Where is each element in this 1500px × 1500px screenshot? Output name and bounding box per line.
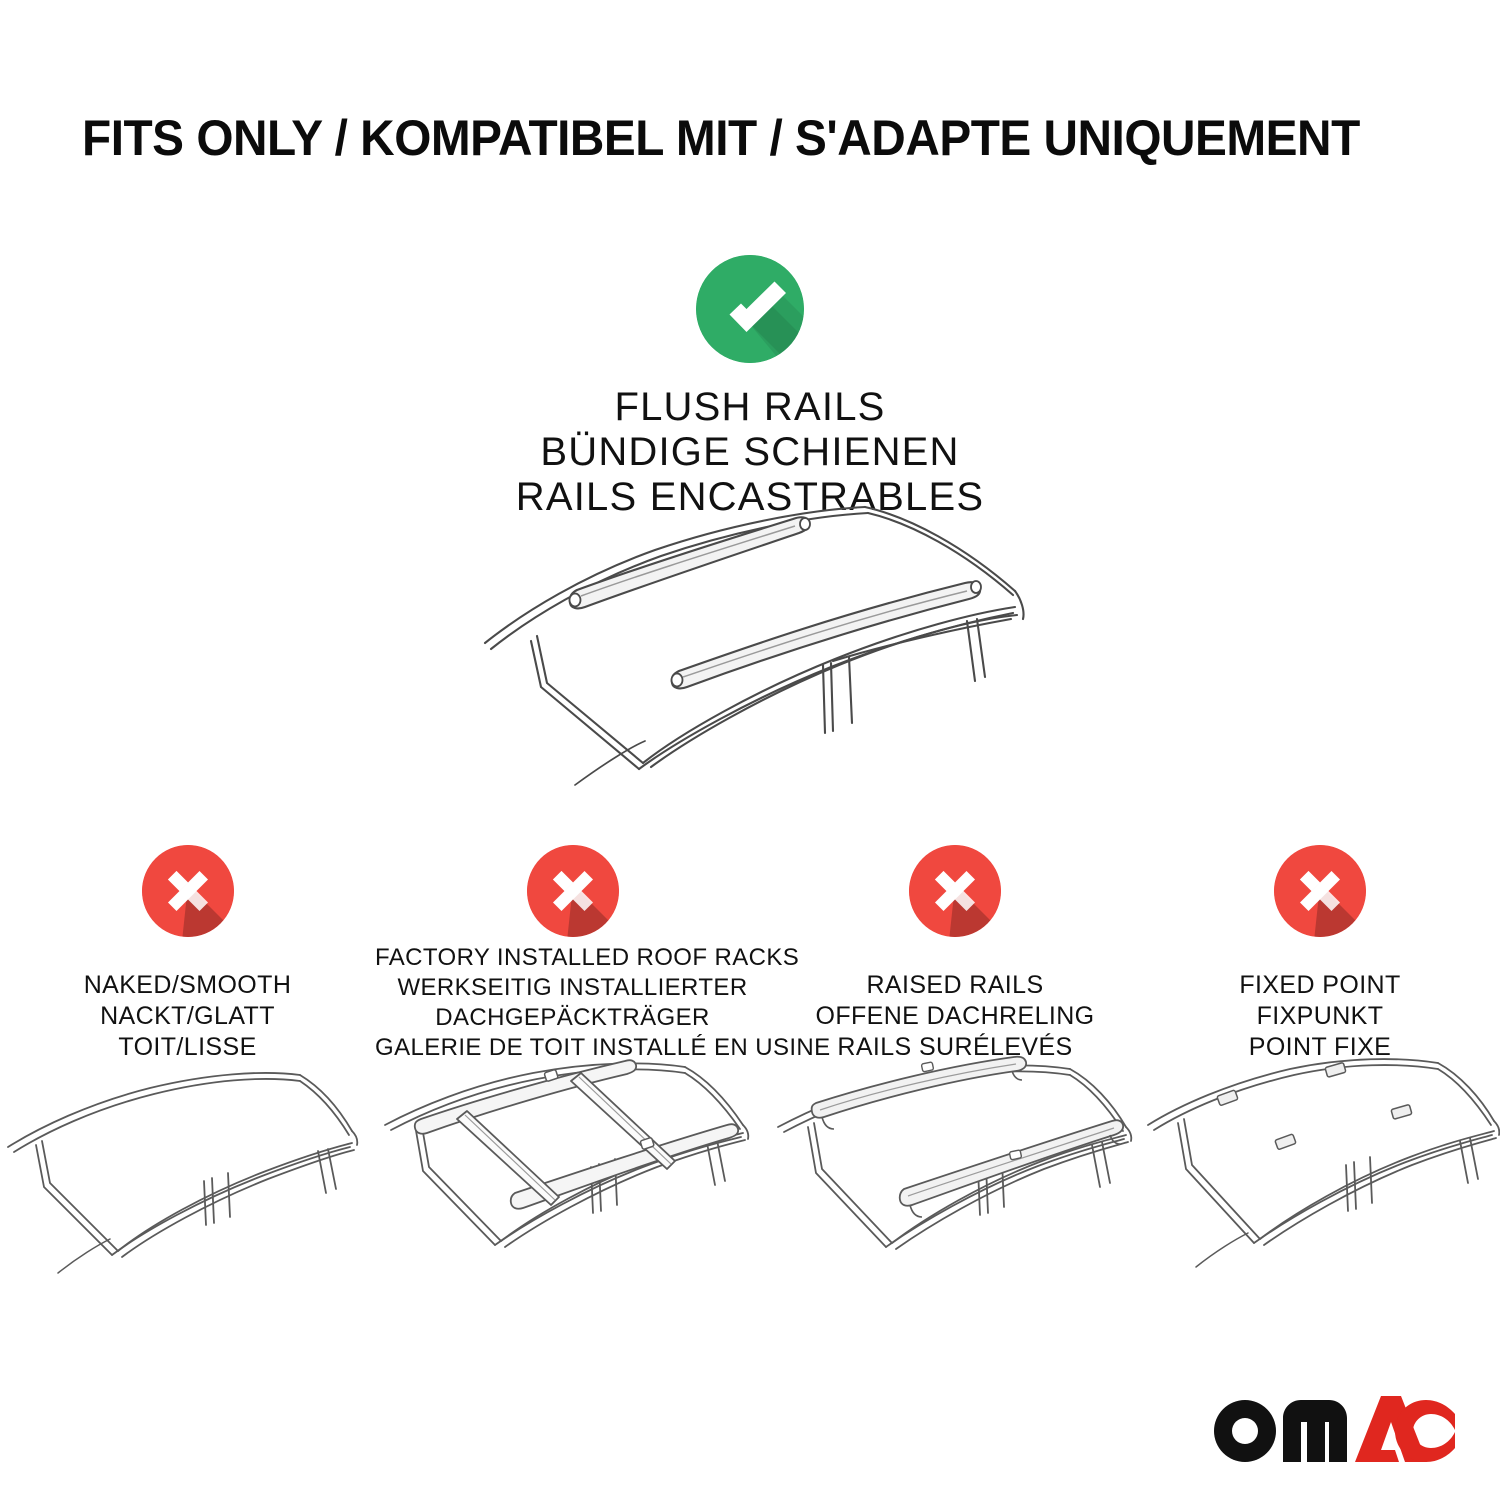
- label-line-de-1: WERKSEITIG INSTALLIERTER: [375, 973, 770, 1003]
- label-line-de: FIXPUNKT: [1140, 1001, 1500, 1032]
- page-title: FITS ONLY / KOMPATIBEL MIT / S'ADAPTE UN…: [82, 108, 1362, 168]
- incompatible-label-naked-smooth: NAKED/SMOOTH NACKT/GLATT TOIT/LISSE: [0, 970, 375, 1063]
- incompatible-item-raised-rails: RAISED RAILS OFFENE DACHRELING RAILS SUR…: [770, 845, 1140, 1075]
- logo-letter-m: [1283, 1400, 1347, 1462]
- car-roof-with-flush-rails-illustration: [455, 495, 1055, 795]
- incompatible-item-naked-smooth: NAKED/SMOOTH NACKT/GLATT TOIT/LISSE: [0, 845, 375, 1075]
- incompatible-label-raised-rails: RAISED RAILS OFFENE DACHRELING RAILS SUR…: [770, 970, 1140, 1063]
- check-circle-icon: [696, 255, 804, 363]
- car-roof-fixed-point-illustration: [1140, 1055, 1500, 1305]
- label-line-en: RAISED RAILS: [770, 970, 1140, 1001]
- label-line-en: NAKED/SMOOTH: [0, 970, 375, 1001]
- logo-letter-o: [1214, 1400, 1276, 1462]
- label-line-de-2: DACHGEPÄCKTRÄGER: [375, 1003, 770, 1033]
- incompatible-label-factory-racks: FACTORY INSTALLED ROOF RACKS WERKSEITIG …: [375, 943, 770, 1063]
- cross-circle-icon: [527, 845, 619, 937]
- compatible-section: FLUSH RAILS BÜNDIGE SCHIENEN RAILS ENCAS…: [0, 255, 1500, 520]
- incompatible-section: NAKED/SMOOTH NACKT/GLATT TOIT/LISSE: [0, 845, 1500, 1075]
- cross-circle-icon: [909, 845, 1001, 937]
- compatible-label-de: BÜNDIGE SCHIENEN: [0, 430, 1500, 475]
- cross-circle-icon: [1274, 845, 1366, 937]
- incompatible-item-factory-racks: FACTORY INSTALLED ROOF RACKS WERKSEITIG …: [375, 845, 770, 1075]
- logo-letter-c: [1395, 1400, 1455, 1462]
- label-line-en: FACTORY INSTALLED ROOF RACKS: [375, 943, 770, 973]
- label-line-en: FIXED POINT: [1140, 970, 1500, 1001]
- car-roof-naked-smooth-illustration: [0, 1055, 375, 1305]
- incompatible-illustrations-row: [0, 1055, 1500, 1305]
- car-roof-factory-installed-racks-illustration: [375, 1055, 770, 1305]
- incompatible-label-fixed-point: FIXED POINT FIXPUNKT POINT FIXE: [1140, 970, 1500, 1063]
- car-roof-raised-rails-illustration: [770, 1055, 1140, 1305]
- label-line-de: OFFENE DACHRELING: [770, 1001, 1140, 1032]
- cross-circle-icon: [142, 845, 234, 937]
- fitment-compatibility-page: FITS ONLY / KOMPATIBEL MIT / S'ADAPTE UN…: [0, 0, 1500, 1500]
- omac-logo: [1205, 1388, 1455, 1468]
- label-line-de: NACKT/GLATT: [0, 1001, 375, 1032]
- incompatible-item-fixed-point: FIXED POINT FIXPUNKT POINT FIXE: [1140, 845, 1500, 1075]
- compatible-label-en: FLUSH RAILS: [0, 385, 1500, 430]
